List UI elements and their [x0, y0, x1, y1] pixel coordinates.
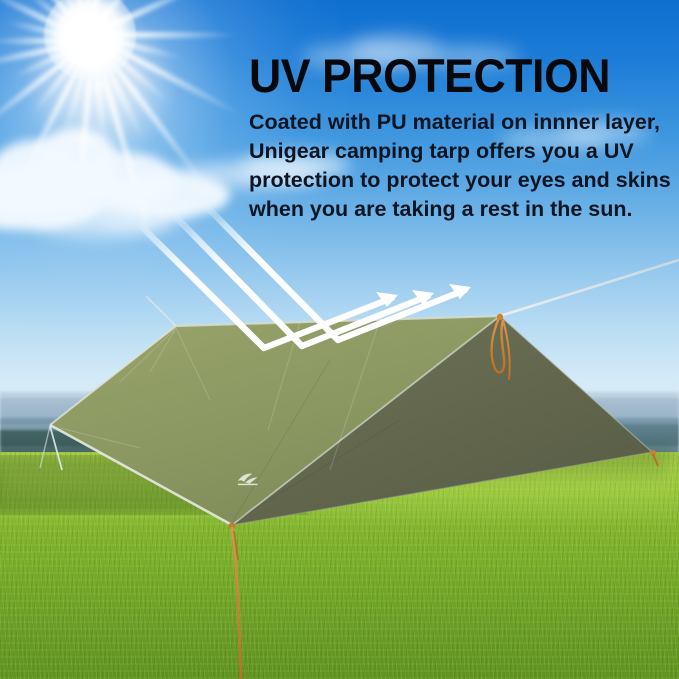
page-title: UV PROTECTION: [249, 52, 610, 99]
guy-line-icon-apex-right: [500, 260, 679, 316]
body-line-3: protection to protect your eyes and skin…: [249, 166, 674, 195]
body-line-2: Unigear camping tarp offers you a UV: [249, 137, 674, 166]
tent-stake-icon-front: [229, 523, 241, 679]
body-line-4: when you are taking a rest in the sun.: [249, 195, 674, 224]
body-line-1: Coated with PU material on innner layer,: [249, 108, 674, 137]
tent-stake-icon-right: [650, 450, 658, 466]
guy-line-icon-left-corner: [40, 426, 62, 470]
product-banner-scene: UV PROTECTION Coated with PU material on…: [0, 0, 679, 679]
guy-line-icon-ridge-left: [146, 296, 176, 326]
body-copy: Coated with PU material on innner layer,…: [249, 108, 674, 224]
